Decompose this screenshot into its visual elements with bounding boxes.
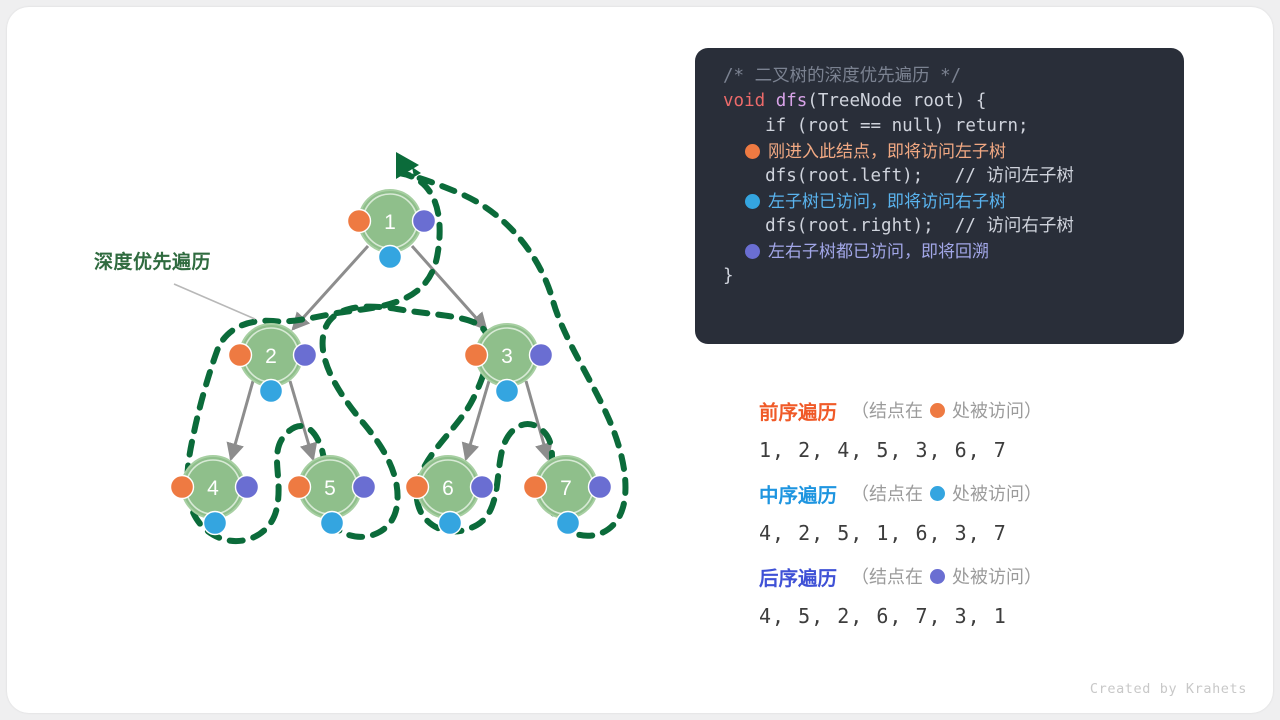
code-line-dfs-left: dfs(root.left); // 访问左子树 — [695, 164, 1184, 189]
code-line-close: } — [695, 264, 1184, 289]
legend-sequence-postorder: 4, 5, 2, 6, 7, 3, 1 — [759, 593, 1189, 639]
code-fn-name: dfs — [765, 89, 807, 114]
node-4-post-dot — [236, 476, 259, 499]
legend-paren-after-inorder: 处被访问） — [952, 480, 1042, 506]
node-2-in-dot — [260, 380, 283, 403]
node-4-in-dot — [204, 512, 227, 535]
blue-dot-icon — [745, 194, 760, 209]
code-line-dfs-right: dfs(root.right); // 访问右子树 — [695, 214, 1184, 239]
node-6-in-dot — [439, 512, 462, 535]
legend-group-preorder: 前序遍历 （结点在 处被访问） 1, 2, 4, 5, 3, 6, 7 — [759, 393, 1189, 473]
node-5-label: 5 — [324, 477, 336, 500]
legend-title-inorder: 中序遍历 — [759, 479, 837, 508]
node-3-pre-dot — [465, 344, 488, 367]
node-3-in-dot — [496, 380, 519, 403]
tree-node-7[interactable]: 7 — [524, 456, 612, 535]
legend-sequence-inorder: 4, 2, 5, 1, 6, 3, 7 — [759, 510, 1189, 556]
node-1-pre-dot — [348, 210, 371, 233]
orange-dot-icon — [930, 403, 945, 418]
node-6-post-dot — [471, 476, 494, 499]
code-line-guard: if (root == null) return; — [695, 114, 1184, 139]
legend-group-postorder: 后序遍历 （结点在 处被访问） 4, 5, 2, 6, 7, 3, 1 — [759, 559, 1189, 639]
code-keyword-void: void — [723, 89, 765, 114]
tree-node-5[interactable]: 5 — [288, 456, 376, 535]
node-6-label: 6 — [442, 477, 454, 500]
legend-paren-after-preorder: 处被访问） — [952, 397, 1042, 423]
node-2-post-dot — [294, 344, 317, 367]
legend-title-preorder: 前序遍历 — [759, 396, 837, 425]
binary-tree-diagram: 1 2 — [7, 7, 667, 713]
code-line-comment: /* 二叉树的深度优先遍历 */ — [695, 64, 1184, 89]
legend-desc-inorder: （结点在 处被访问） — [851, 480, 1042, 506]
code-note-post-text: 左右子树都已访问，即将回溯 — [768, 239, 989, 264]
legend-group-inorder: 中序遍历 （结点在 处被访问） 4, 2, 5, 1, 6, 3, 7 — [759, 476, 1189, 556]
node-1-label: 1 — [384, 211, 396, 234]
legend-head-postorder: 后序遍历 （结点在 处被访问） — [759, 559, 1189, 593]
tree-node-2[interactable]: 2 — [229, 324, 317, 403]
screenshot-stage: 1 2 — [0, 0, 1280, 720]
node-3-label: 3 — [501, 345, 513, 368]
node-5-pre-dot — [288, 476, 311, 499]
legend-head-inorder: 中序遍历 （结点在 处被访问） — [759, 476, 1189, 510]
edge-2-5 — [290, 381, 313, 459]
node-5-in-dot — [321, 512, 344, 535]
code-note-in-text: 左子树已访问，即将访问右子树 — [768, 189, 1006, 214]
code-line-note-in: 左子树已访问，即将访问右子树 — [695, 189, 1184, 214]
legend-head-preorder: 前序遍历 （结点在 处被访问） — [759, 393, 1189, 427]
edge-2-4 — [231, 381, 253, 459]
edge-3-6 — [466, 381, 489, 459]
legend-paren-before-preorder: （结点在 — [851, 397, 923, 423]
credit-text: Created by Krahets — [1090, 681, 1247, 697]
dfs-annotation-label: 深度优先遍历 — [94, 247, 211, 274]
node-4-pre-dot — [171, 476, 194, 499]
annotation-pointer-line — [174, 284, 255, 319]
node-1-in-dot — [379, 246, 402, 269]
node-2-pre-dot — [229, 344, 252, 367]
node-7-pre-dot — [524, 476, 547, 499]
blue-dot-icon — [930, 486, 945, 501]
node-7-in-dot — [557, 512, 580, 535]
node-2-label: 2 — [265, 345, 277, 368]
node-6-pre-dot — [406, 476, 429, 499]
node-7-post-dot — [589, 476, 612, 499]
legend-title-postorder: 后序遍历 — [759, 562, 837, 591]
legend-paren-before-inorder: （结点在 — [851, 480, 923, 506]
legend-paren-before-postorder: （结点在 — [851, 563, 923, 589]
tree-svg: 1 2 — [7, 7, 667, 713]
orange-dot-icon — [745, 144, 760, 159]
node-7-label: 7 — [560, 477, 572, 500]
traversal-legend: 前序遍历 （结点在 处被访问） 1, 2, 4, 5, 3, 6, 7 中序遍历… — [759, 393, 1189, 642]
code-comment-text: /* 二叉树的深度优先遍历 */ — [723, 64, 961, 89]
figure-card: 1 2 — [7, 7, 1273, 713]
purple-dot-icon — [930, 569, 945, 584]
legend-paren-after-postorder: 处被访问） — [952, 563, 1042, 589]
node-4-label: 4 — [207, 477, 219, 500]
code-guard-text: if (root == null) return; — [723, 114, 1029, 139]
code-line-note-post: 左右子树都已访问，即将回溯 — [695, 239, 1184, 264]
edge-3-7 — [526, 381, 548, 459]
code-close-brace: } — [723, 264, 734, 289]
code-signature-rest: (TreeNode root) { — [807, 89, 986, 114]
purple-dot-icon — [745, 244, 760, 259]
legend-desc-preorder: （结点在 处被访问） — [851, 397, 1042, 423]
legend-sequence-preorder: 1, 2, 4, 5, 3, 6, 7 — [759, 427, 1189, 473]
code-dfs-left-text: dfs(root.left); // 访问左子树 — [723, 164, 1074, 189]
code-snippet-panel: /* 二叉树的深度优先遍历 */ void dfs(TreeNode root)… — [695, 48, 1184, 344]
code-line-signature: void dfs(TreeNode root) { — [695, 89, 1184, 114]
legend-desc-postorder: （结点在 处被访问） — [851, 563, 1042, 589]
code-note-pre-text: 刚进入此结点，即将访问左子树 — [768, 139, 1006, 164]
tree-node-4[interactable]: 4 — [171, 456, 259, 535]
code-dfs-right-text: dfs(root.right); // 访问右子树 — [723, 214, 1074, 239]
node-5-post-dot — [353, 476, 376, 499]
node-3-post-dot — [530, 344, 553, 367]
node-1-post-dot — [413, 210, 436, 233]
code-line-note-pre: 刚进入此结点，即将访问左子树 — [695, 139, 1184, 164]
